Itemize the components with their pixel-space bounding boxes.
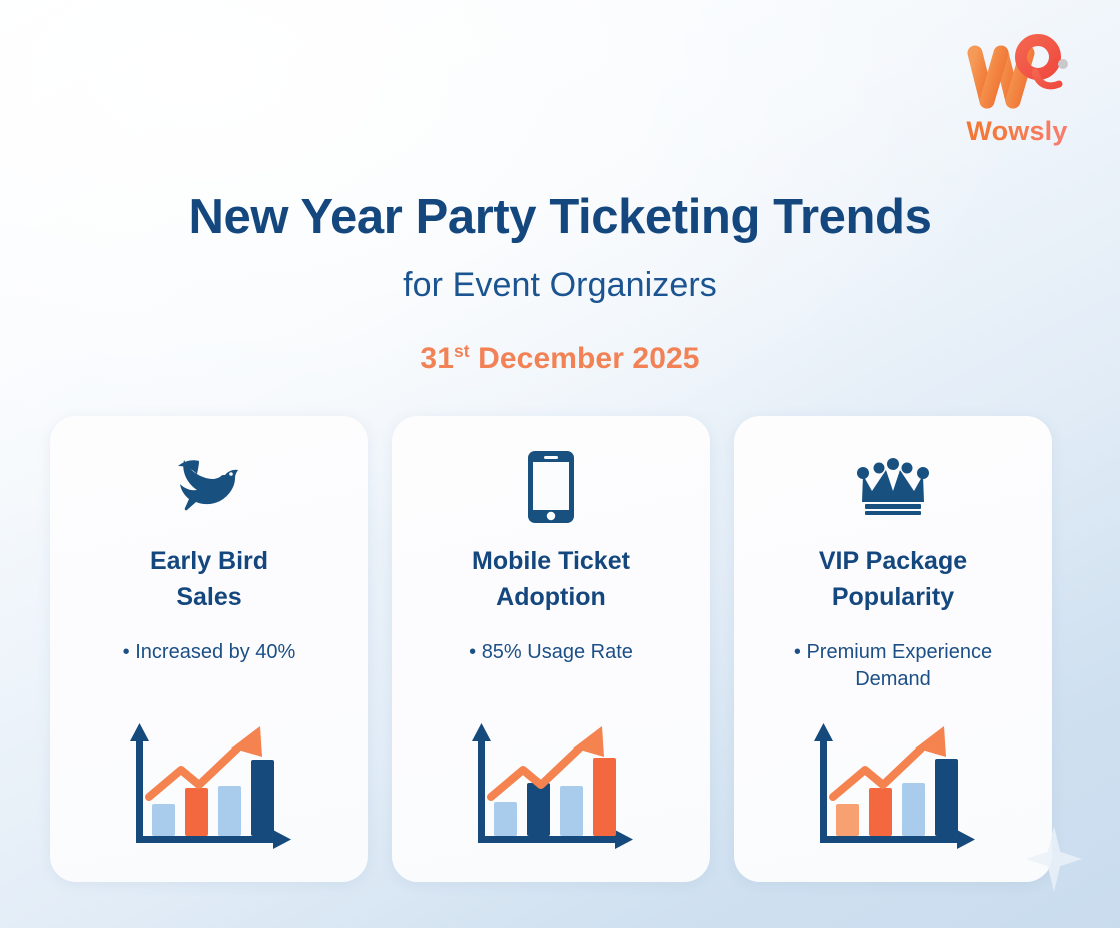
card-title-line-2: Popularity [832, 583, 954, 611]
growth-bar-chart-icon [803, 715, 983, 860]
card-title: VIP Package Popularity [803, 544, 983, 615]
card-bullet: • Increased by 40% [103, 639, 316, 666]
card-title-line-1: Mobile Ticket [472, 547, 630, 575]
header-block: New Year Party Ticketing Trends for Even… [0, 192, 1120, 376]
bullet-dot-icon: • [123, 641, 130, 663]
event-date-rest: December 2025 [470, 342, 700, 375]
card-bullet-text: Premium Experience Demand [806, 641, 992, 690]
card-title-line-2: Sales [176, 583, 241, 611]
growth-bar-chart-icon [119, 715, 299, 860]
card-chart [50, 715, 368, 860]
event-date-suffix: st [454, 341, 470, 361]
bullet-dot-icon: • [794, 641, 801, 663]
card-icon-slot [856, 450, 930, 524]
card-bullet: • Premium Experience Demand [734, 639, 1052, 693]
card-chart [392, 715, 710, 860]
trend-cards: Early Bird Sales • Increased by 40% [50, 416, 1054, 882]
card-title: Early Bird Sales [134, 544, 284, 615]
event-date: 31st December 2025 [0, 341, 1120, 376]
brand-logo: Wowsly [952, 30, 1082, 147]
card-bullet: • 85% Usage Rate [449, 639, 653, 666]
event-date-day: 31 [420, 342, 454, 375]
card-bullet-text: Increased by 40% [135, 641, 295, 663]
page-title: New Year Party Ticketing Trends [0, 192, 1120, 244]
bullet-dot-icon: • [469, 641, 476, 663]
growth-bar-chart-icon [461, 715, 641, 860]
crown-icon [856, 458, 930, 516]
card-icon-slot [527, 450, 575, 524]
trend-card-vip-package-popularity[interactable]: VIP Package Popularity • Premium Experie… [734, 416, 1052, 882]
card-icon-slot [169, 450, 249, 524]
trend-card-mobile-ticket-adoption[interactable]: Mobile Ticket Adoption • 85% Usage Rate [392, 416, 710, 882]
brand-wordmark: Wowsly [952, 116, 1082, 147]
card-title-line-1: VIP Package [819, 547, 967, 575]
card-bullet-text: 85% Usage Rate [482, 641, 633, 663]
page-subtitle: for Event Organizers [0, 266, 1120, 305]
trend-card-early-bird-sales[interactable]: Early Bird Sales • Increased by 40% [50, 416, 368, 882]
card-title: Mobile Ticket Adoption [456, 544, 646, 615]
card-title-line-1: Early Bird [150, 547, 268, 575]
wowsly-w-logo-icon [961, 30, 1073, 112]
card-title-line-2: Adoption [496, 583, 606, 611]
mobile-phone-icon [527, 450, 575, 524]
card-chart [734, 715, 1052, 860]
dove-icon [169, 455, 249, 519]
